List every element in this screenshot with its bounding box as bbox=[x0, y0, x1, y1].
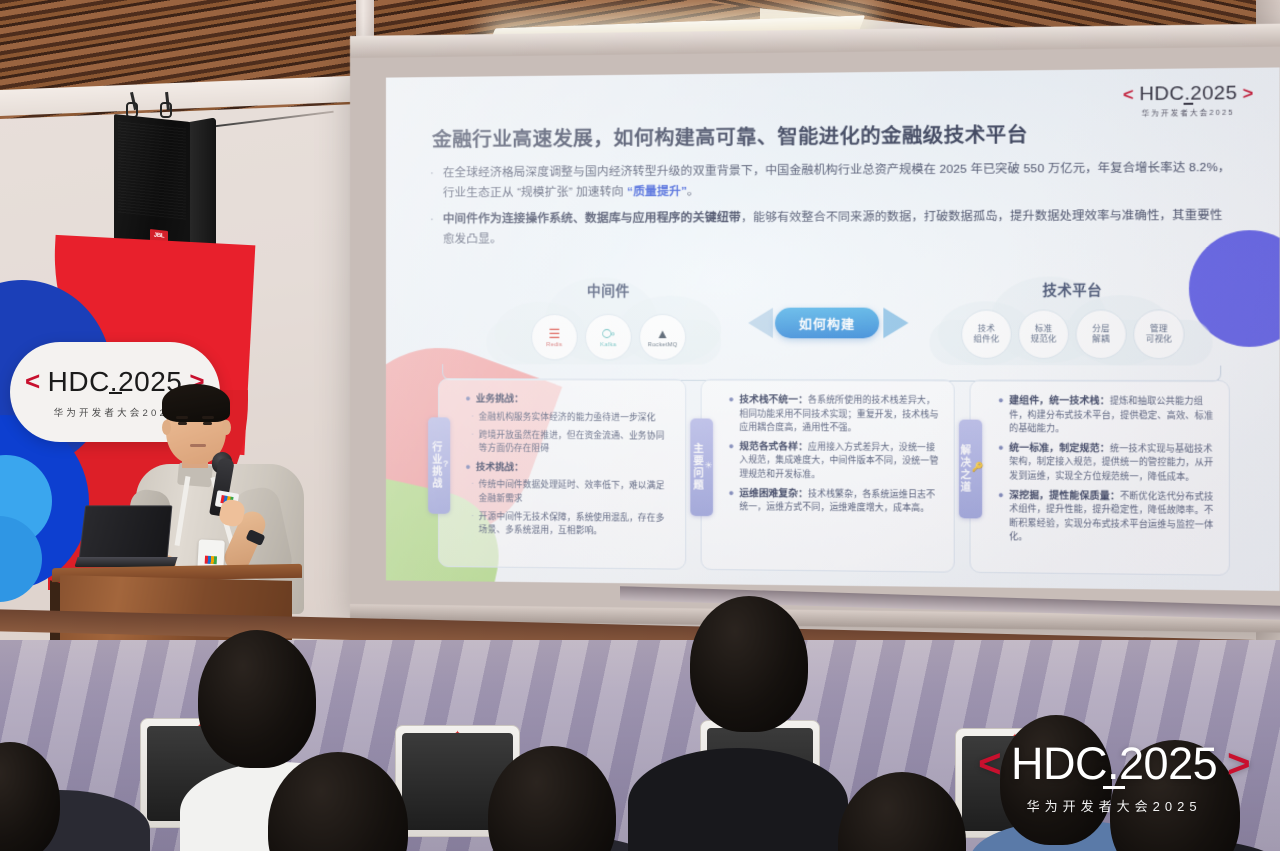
chevron-left-icon: < bbox=[1123, 85, 1134, 106]
column-list-item: ·传统中间件数据处理延时、效率低下，难以满足金融新需求 bbox=[465, 478, 673, 507]
presenter-eye-right bbox=[203, 422, 212, 425]
column-list-item-text: 技术挑战： bbox=[476, 460, 524, 475]
column-list-item-text: 统一标准，制定规范：统一技术实现与基础技术架构，制定接入规范，提供统一的管控能力… bbox=[1009, 440, 1216, 485]
column-items: ●建组件，统一技术栈：提炼和抽取公共能力组件，构建分布式技术平台，提供稳定、高效… bbox=[998, 393, 1216, 546]
slide-logo-title-row: < HDC.2025 > bbox=[1123, 82, 1254, 106]
bullet-text-run: 中间件作为连接操作系统、数据库与应用程序的关键纽带 bbox=[443, 211, 741, 226]
tech-platform-chip-row: 技术 组件化 标准 规范化 分层 解耦 管理 可 bbox=[929, 309, 1216, 359]
vertical-tab-main-problems: ☀ 主要问题 bbox=[690, 418, 713, 516]
column-list-item: ●统一标准，制定规范：统一技术实现与基础技术架构，制定接入规范，提供统一的管控能… bbox=[998, 440, 1216, 485]
presenter-ear-right bbox=[222, 420, 231, 435]
audience-member-shoulders bbox=[628, 748, 848, 851]
list-bullet-icon: ● bbox=[728, 392, 734, 435]
audience-member-head bbox=[690, 596, 808, 732]
speaker-ring-right bbox=[160, 102, 172, 118]
column-list-item: ·开源中间件无技术保障，系统使用混乱，存在多场景、多系统混用，互相影响。 bbox=[465, 510, 673, 539]
vertical-tab-label: 行业挑战 bbox=[428, 441, 443, 489]
wall-mounted-jbl-speaker: JBL bbox=[108, 88, 243, 263]
presenter-brow-left bbox=[176, 416, 188, 419]
speaker-side-panel bbox=[186, 117, 216, 255]
column-list-item: ●深挖掘，提性能保质量：不断优化迭代分布式技术组件，提升性能，提升稳定性，降低故… bbox=[998, 487, 1216, 546]
column-list-item-text: 运维困难复杂：技术栈繁杂，各系统运维日志不统一，运维方式不同，运维难度增大，成本… bbox=[739, 485, 941, 515]
lightbulb-icon: ☀ bbox=[704, 460, 714, 471]
badge-logo bbox=[205, 556, 217, 565]
bullet-item: · 在全球经济格局深度调整与国内经济转型升级的双重背景下，中国金融机构行业总资产… bbox=[430, 157, 1232, 202]
column-item-bold-lead: 技术栈不统一： bbox=[739, 393, 808, 404]
column-items: ●技术栈不统一：各系统所使用的技术栈差异大，相同功能采用不同技术实现；重复开发，… bbox=[728, 392, 941, 516]
bullet-text: 在全球经济格局深度调整与国内经济转型升级的双重背景下，中国金融机构行业总资产规模… bbox=[443, 157, 1232, 202]
chip-line-1: 分层 bbox=[1092, 324, 1110, 334]
audience-member-head bbox=[0, 742, 60, 851]
laptop-screen bbox=[79, 505, 173, 559]
column-main-problems: ☀ 主要问题 ●技术栈不统一：各系统所使用的技术栈差异大，相同功能采用不同技术实… bbox=[701, 379, 955, 573]
rocketmq-icon: ▲ bbox=[656, 327, 669, 340]
arrow-left-icon bbox=[748, 308, 773, 339]
column-item-bold-lead: 规范各式各样： bbox=[739, 440, 808, 452]
column-list-item-text: 开源中间件无技术保障，系统使用混乱，存在多场景、多系统混用，互相影响。 bbox=[479, 510, 673, 539]
column-item-bold-lead: 业务挑战： bbox=[476, 392, 524, 403]
column-industry-challenges: ? 行业挑战 ●业务挑战：·金融机构服务实体经济的能力亟待进一步深化·跨境开放虽… bbox=[438, 378, 686, 570]
three-column-panels: ? 行业挑战 ●业务挑战：·金融机构服务实体经济的能力亟待进一步深化·跨境开放虽… bbox=[438, 378, 1230, 576]
column-list-item-text: 业务挑战： bbox=[476, 391, 524, 406]
slide-hdc-logo: < HDC.2025 > 华为开发者大会2025 bbox=[1123, 82, 1254, 118]
middleware-cloud: 中间件 ☰ Redis ⧂ Kafka ▲ RocketMQ bbox=[486, 273, 731, 367]
column-list-item-text: 跨境开放虽然在推进，但在资金流通、业务协同等方面仍存在阻碍 bbox=[479, 428, 673, 457]
vertical-tab-label: 主要问题 bbox=[689, 443, 704, 492]
bullet-marker: · bbox=[430, 210, 434, 249]
bullet-text-run: “质量提升” bbox=[627, 184, 687, 198]
slide-bullet-list: · 在全球经济格局深度调整与国内经济转型升级的双重背景下，中国金融机构行业总资产… bbox=[430, 157, 1232, 255]
tech-chip-label: Kafka bbox=[600, 342, 616, 348]
column-list-item: ·跨境开放虽然在推进，但在资金流通、业务协同等方面仍存在阻碍 bbox=[465, 428, 673, 457]
middleware-platform-diagram: 中间件 ☰ Redis ⧂ Kafka ▲ RocketMQ bbox=[446, 272, 1217, 372]
column-list-item-text: 深挖掘，提性能保质量：不断优化迭代分布式技术组件，提升性能，提升稳定性，降低故障… bbox=[1009, 487, 1216, 546]
arrow-right-icon bbox=[883, 308, 908, 339]
list-subbullet-icon: · bbox=[465, 428, 473, 455]
vertical-tab-industry-challenges: ? 行业挑战 bbox=[428, 417, 450, 514]
key-icon: 🔑 bbox=[972, 461, 986, 472]
presentation-room-photo: JBL < HDC.2025 > 华为开发者大会2025 < bbox=[0, 0, 1280, 851]
redis-icon: ☰ bbox=[548, 327, 560, 340]
audience-member-head bbox=[838, 772, 966, 851]
column-item-bold-lead: 统一标准，制定规范： bbox=[1009, 441, 1110, 453]
column-item-bold-lead: 运维困难复杂： bbox=[739, 486, 808, 498]
presentation-slide: < HDC.2025 > 华为开发者大会2025 金融行业高速发展，如何构建高可… bbox=[386, 67, 1280, 590]
vertical-tab-label: 解决之道 bbox=[956, 444, 972, 493]
tech-platform-cloud: 技术平台 技术 组件化 标准 规范化 分层 解耦 bbox=[929, 272, 1216, 368]
list-subbullet-icon: · bbox=[465, 510, 473, 537]
middleware-tech-row: ☰ Redis ⧂ Kafka ▲ RocketMQ bbox=[486, 314, 731, 361]
question-icon: ? bbox=[443, 459, 451, 469]
chip-line-1: 管理 bbox=[1150, 324, 1168, 334]
column-list-item: ●技术栈不统一：各系统所使用的技术栈差异大，相同功能采用不同技术实现；重复开发，… bbox=[728, 392, 941, 436]
tech-platform-cloud-label: 技术平台 bbox=[929, 278, 1216, 299]
column-item-bold-lead: 技术挑战： bbox=[476, 461, 524, 472]
chip-line-1: 标准 bbox=[1035, 324, 1052, 334]
audience-member-head bbox=[1110, 740, 1240, 851]
column-list-item-text: 建组件，统一技术栈：提炼和抽取公共能力组件，构建分布式技术平台，提供稳定、高效、… bbox=[1009, 393, 1216, 437]
vertical-tab-solutions: 🔑 解决之道 bbox=[959, 420, 982, 519]
presenter-ear-left bbox=[162, 420, 171, 435]
column-list-item: ·金融机构服务实体经济的能力亟待进一步深化 bbox=[465, 410, 673, 425]
list-bullet-icon: ● bbox=[465, 459, 470, 474]
presenter-brow-right bbox=[202, 416, 214, 419]
slide-title: 金融行业高速发展，如何构建高可靠、智能进化的金融级技术平台 bbox=[432, 118, 1028, 153]
column-list-item: ●运维困难复杂：技术栈繁杂，各系统运维日志不统一，运维方式不同，运维难度增大，成… bbox=[728, 485, 941, 515]
column-list-item-text: 规范各式各样：应用接入方式差异大，没统一接入规范，集成难度大，中间件版本不同，没… bbox=[739, 439, 941, 483]
column-list-item: ●技术挑战： bbox=[465, 459, 673, 475]
chip-line-2: 可视化 bbox=[1146, 334, 1172, 344]
audience-member-head bbox=[1000, 715, 1112, 845]
chevron-left-icon: < bbox=[25, 366, 41, 397]
list-bullet-icon: ● bbox=[998, 487, 1004, 544]
column-list-item: ●建组件，统一技术栈：提炼和抽取公共能力组件，构建分布式技术平台，提供稳定、高效… bbox=[998, 393, 1216, 437]
tech-chip-redis: ☰ Redis bbox=[531, 314, 578, 360]
chip-line-2: 解耦 bbox=[1092, 334, 1110, 344]
bullet-item: · 中间件作为连接操作系统、数据库与应用程序的关键纽带，能够有效整合不同来源的数… bbox=[430, 205, 1232, 248]
column-list-item-text: 传统中间件数据处理延时、效率低下，难以满足金融新需求 bbox=[479, 478, 673, 507]
presenter-mouth bbox=[190, 444, 206, 447]
column-list-item-text: 技术栈不统一：各系统所使用的技术栈差异大，相同功能采用不同技术实现；重复开发，技… bbox=[739, 392, 941, 436]
list-bullet-icon: ● bbox=[728, 485, 734, 514]
slide-logo-subtitle: 华为开发者大会2025 bbox=[1123, 107, 1254, 119]
tech-chip-label: Redis bbox=[546, 342, 562, 348]
list-bullet-icon: ● bbox=[998, 440, 1004, 483]
tech-chip-rocketmq: ▲ RocketMQ bbox=[639, 314, 686, 361]
projection-screen: < HDC.2025 > 华为开发者大会2025 金融行业高速发展，如何构建高可… bbox=[350, 23, 1280, 627]
column-item-bold-lead: 建组件，统一技术栈： bbox=[1009, 394, 1110, 406]
chevron-right-icon: > bbox=[1243, 83, 1254, 104]
how-to-build-button: 如何构建 bbox=[775, 308, 879, 339]
column-items: ●业务挑战：·金融机构服务实体经济的能力亟待进一步深化·跨境开放虽然在推进，但在… bbox=[465, 391, 673, 539]
list-subbullet-icon: · bbox=[465, 410, 473, 424]
column-list-item: ●业务挑战： bbox=[465, 391, 673, 406]
bullet-text: 中间件作为连接操作系统、数据库与应用程序的关键纽带，能够有效整合不同来源的数据，… bbox=[443, 205, 1232, 248]
kafka-icon: ⧂ bbox=[602, 327, 615, 340]
platform-chip-standardization: 标准 规范化 bbox=[1018, 310, 1069, 360]
presenter-laptop bbox=[76, 505, 174, 567]
middleware-cloud-label: 中间件 bbox=[486, 279, 731, 300]
slide-logo-title: HDC.2025 bbox=[1139, 83, 1237, 107]
column-list-item-text: 金融机构服务实体经济的能力亟待进一步深化 bbox=[479, 410, 656, 425]
bullet-text-run: 在全球经济格局深度调整与国内经济转型升级的双重背景下，中国金融机构行业总资产规模… bbox=[443, 161, 1231, 199]
presenter-hair bbox=[162, 384, 230, 422]
presenter-eye-left bbox=[178, 422, 187, 425]
chip-line-2: 组件化 bbox=[973, 334, 999, 344]
platform-chip-management-visualization: 管理 可视化 bbox=[1133, 309, 1184, 359]
audience-member-head bbox=[198, 630, 316, 768]
list-bullet-icon: ● bbox=[465, 391, 470, 406]
column-solutions: 🔑 解决之道 ●建组件，统一技术栈：提炼和抽取公共能力组件，构建分布式技术平台，… bbox=[970, 380, 1230, 576]
speaker-grille bbox=[118, 120, 186, 219]
chip-line-2: 规范化 bbox=[1031, 334, 1057, 344]
bullet-text-run: 。 bbox=[687, 184, 699, 197]
bullet-marker: · bbox=[430, 163, 434, 202]
column-item-bold-lead: 深挖掘，提性能保质量： bbox=[1009, 488, 1120, 500]
tech-chip-kafka: ⧂ Kafka bbox=[585, 314, 632, 361]
platform-chip-layered-decoupling: 分层 解耦 bbox=[1075, 309, 1126, 359]
audience-seating: ✦ ✦ ✦ ✦ bbox=[0, 600, 1280, 851]
tech-chip-label: RocketMQ bbox=[648, 342, 678, 348]
column-list-item: ●规范各式各样：应用接入方式差异大，没统一接入规范，集成难度大，中间件版本不同，… bbox=[728, 439, 941, 483]
list-bullet-icon: ● bbox=[998, 393, 1004, 436]
chip-line-1: 技术 bbox=[978, 324, 995, 334]
list-bullet-icon: ● bbox=[728, 439, 734, 482]
platform-chip-componentization: 技术 组件化 bbox=[961, 310, 1012, 359]
list-subbullet-icon: · bbox=[465, 478, 473, 505]
